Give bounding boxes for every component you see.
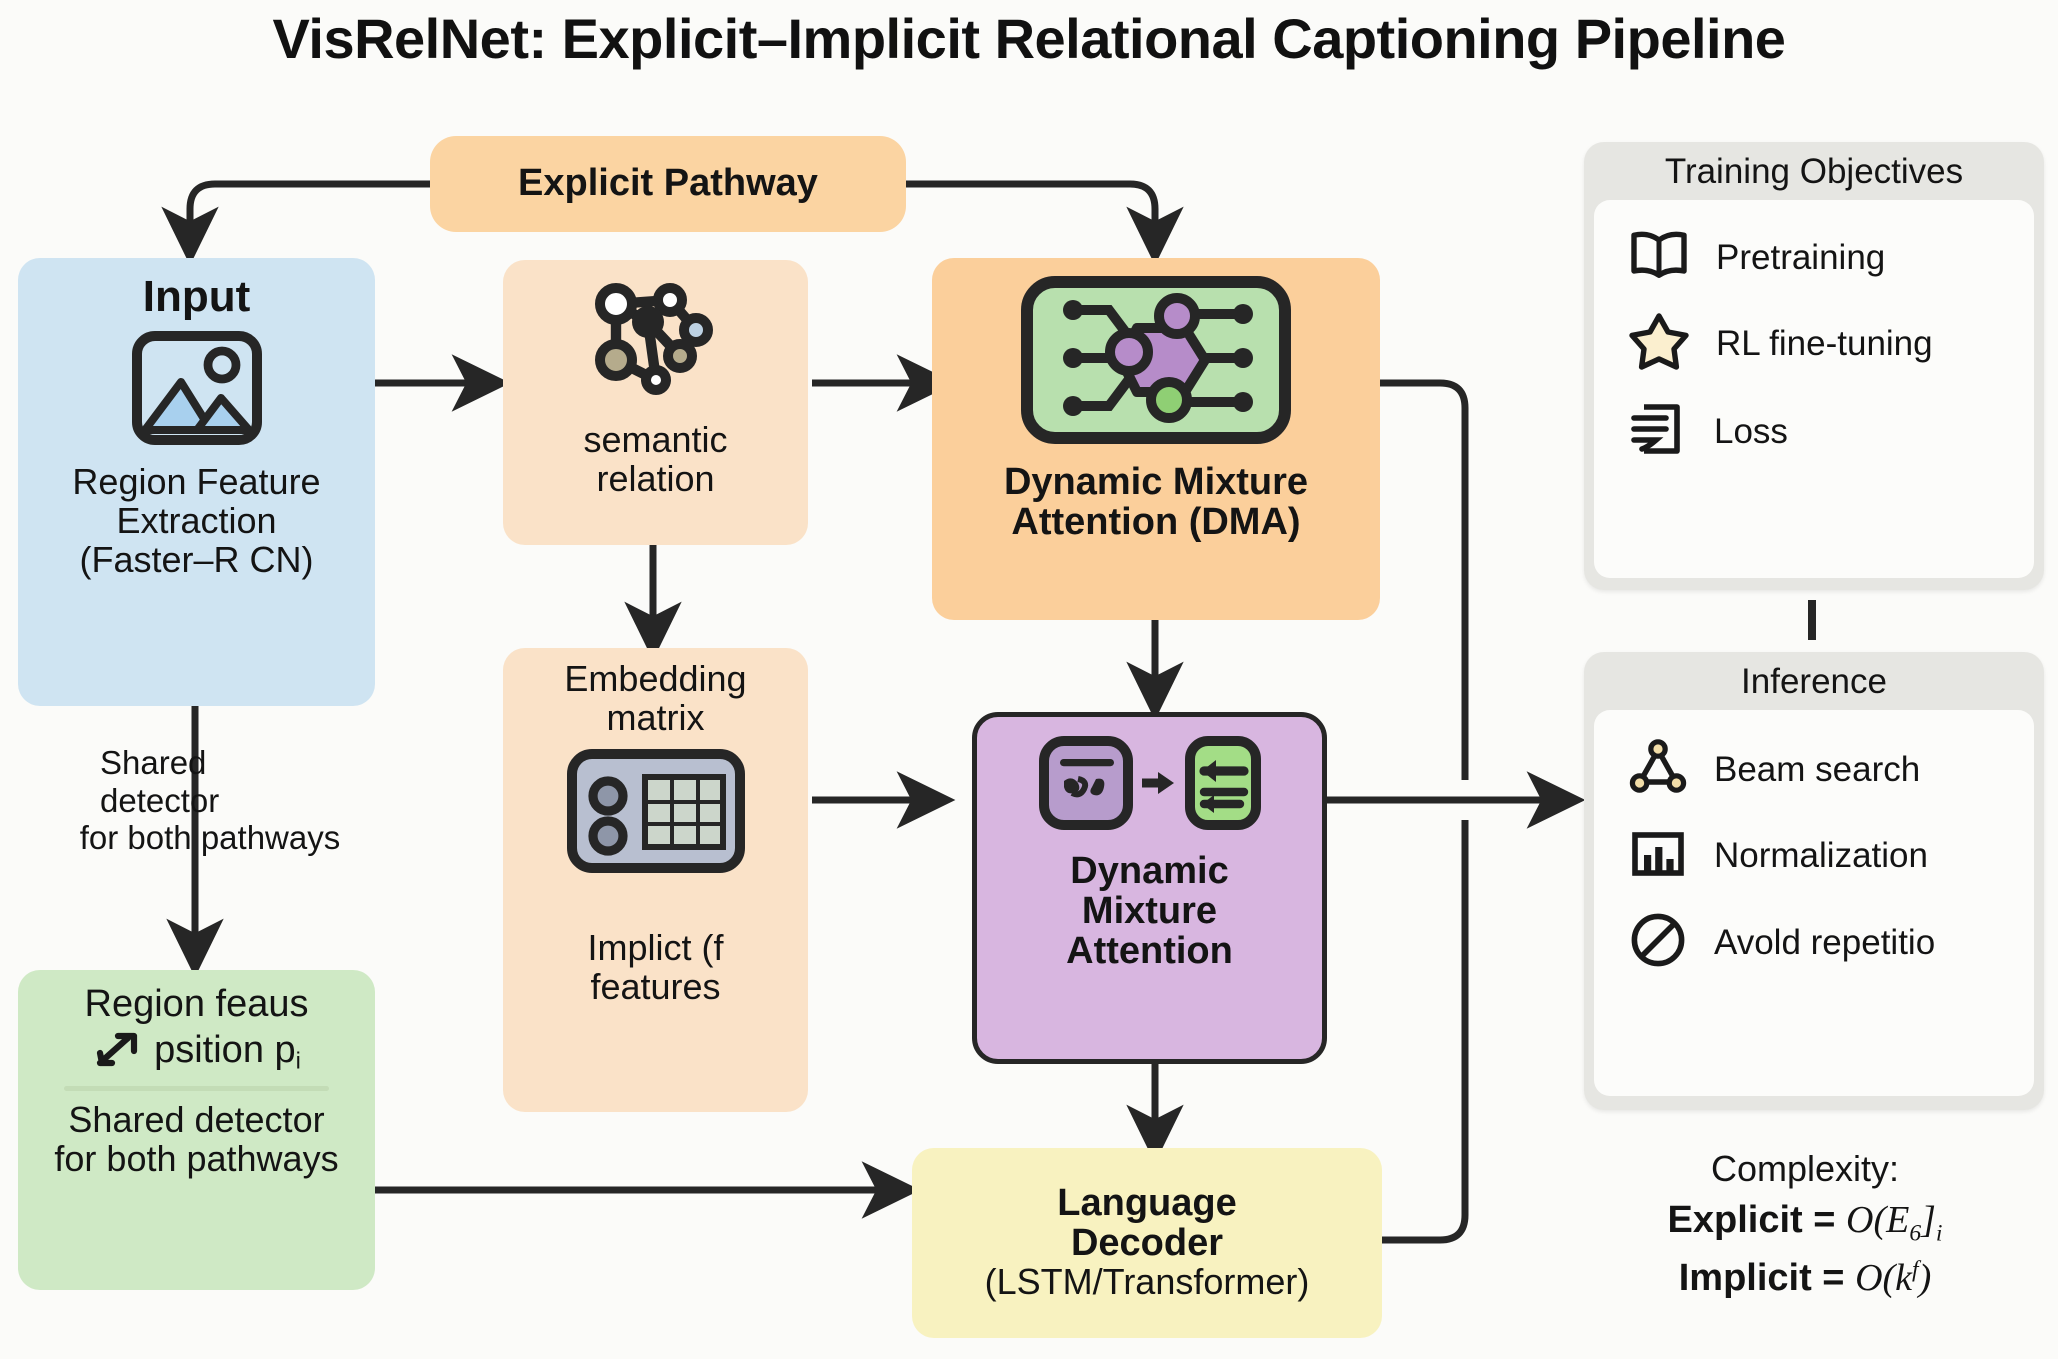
training-objectives-title: Training Objectives (1584, 142, 2044, 200)
region-feats-footer2: for both pathways (54, 1140, 338, 1179)
input-line3: (Faster–R CN) (79, 541, 313, 580)
language-decoder-line3: (LSTM/Transformer) (985, 1263, 1310, 1302)
list-item[interactable]: Loss (1594, 388, 2034, 475)
arrow-connector-icon (1142, 769, 1176, 802)
list-item[interactable]: Avold repetitio (1594, 898, 2034, 987)
region-feats-footer1: Shared detector (68, 1101, 324, 1140)
input-heading: Input (143, 274, 251, 320)
attention-map-icon (1038, 735, 1134, 836)
training-objectives-panel: Training Objectives Pretraining RL fine (1584, 142, 2044, 590)
embedding-matrix-line1: Embedding (564, 660, 746, 699)
complexity-explicit: Explicit = O(E6]i (1560, 1198, 2050, 1248)
language-decoder-block[interactable]: Language Decoder (LSTM/Transformer) (912, 1148, 1382, 1338)
mixture-network-icon (1021, 276, 1291, 449)
explicit-pathway-label: Explicit Pathway (518, 164, 818, 204)
loss-icon (1628, 400, 1688, 463)
input-line1: Region Feature (72, 463, 320, 502)
shared-detector-note: Shared detector for both pathways (10, 744, 410, 857)
language-decoder-line1: Language (1057, 1184, 1236, 1224)
matrix-grid-icon (566, 748, 746, 879)
dma-purple-line1: Dynamic (1070, 852, 1228, 892)
list-item-label: Beam search (1714, 750, 1920, 790)
beam-graph-icon (1628, 738, 1688, 801)
complexity-note: Complexity: Explicit = O(E6]i Implicit =… (1560, 1148, 2050, 1300)
list-item-label: Normalization (1714, 836, 1928, 876)
semantic-relation-block[interactable]: semantic relation (503, 260, 808, 545)
region-feats-block[interactable]: Region feaus psition pi Shared detector … (18, 970, 375, 1290)
dma-purple-line2: Mixture (1082, 892, 1217, 932)
region-feats-line1: Region feaus (85, 984, 309, 1025)
dma-line2: Attention (DMA) (1011, 503, 1300, 543)
list-item-label: Loss (1714, 412, 1788, 452)
language-decoder-line2: Decoder (1071, 1224, 1223, 1264)
list-item-label: Avold repetitio (1714, 923, 1935, 963)
region-feats-subscript: i (296, 1047, 301, 1073)
region-feats-line2: psition pi (154, 1030, 301, 1074)
inference-panel: Inference Beam search (1584, 652, 2044, 1110)
semantic-relation-line1: semantic (583, 421, 727, 460)
list-item-label: Pretraining (1716, 238, 1885, 278)
image-icon (131, 330, 263, 451)
inference-title: Inference (1584, 652, 2044, 710)
input-block[interactable]: Input Region Feature Extraction (Faster–… (18, 258, 375, 706)
semantic-relation-line2: relation (596, 460, 714, 499)
list-item[interactable]: Normalization (1594, 813, 2034, 898)
dma-purple-block[interactable]: Dynamic Mixture Attention (972, 712, 1327, 1064)
dma-block[interactable]: Dynamic Mixture Attention (DMA) (932, 258, 1380, 620)
explicit-pathway-block[interactable]: Explicit Pathway (430, 136, 906, 232)
embedding-matrix-block[interactable]: Embedding matrix Implict (f features (503, 648, 808, 1112)
diagram-canvas: VisRelNet: Explicit–Implicit Relational … (0, 0, 2058, 1359)
embedding-matrix-line2: matrix (607, 699, 705, 738)
shared-detector-note-line1: Shared (100, 744, 410, 782)
implicit-features-line1: Implict (f (587, 929, 723, 968)
complexity-heading: Complexity: (1560, 1148, 2050, 1190)
shared-detector-note-line3: for both pathways (10, 819, 410, 857)
histogram-icon (1628, 825, 1688, 886)
arrow-expand-icon (92, 1027, 144, 1076)
graph-nodes-icon (576, 276, 736, 417)
input-line2: Extraction (116, 502, 276, 541)
list-item[interactable]: Pretraining (1594, 216, 2034, 299)
implicit-features-line2: features (590, 968, 720, 1007)
star-icon (1628, 311, 1690, 376)
page-title: VisRelNet: Explicit–Implicit Relational … (0, 6, 2058, 71)
shared-detector-note-line2: detector (100, 782, 410, 820)
list-item[interactable]: RL fine-tuning (1594, 299, 2034, 388)
dma-purple-line3: Attention (1066, 932, 1233, 972)
list-item[interactable]: Beam search (1594, 726, 2034, 813)
book-icon (1628, 228, 1690, 287)
list-item-label: RL fine-tuning (1716, 324, 1933, 364)
dma-line1: Dynamic Mixture (1004, 463, 1308, 503)
arrows-left-icon (1184, 735, 1262, 836)
region-feats-divider (64, 1086, 330, 1091)
no-entry-icon (1628, 910, 1688, 975)
complexity-implicit: Implicit = O(kf) (1560, 1256, 2050, 1300)
